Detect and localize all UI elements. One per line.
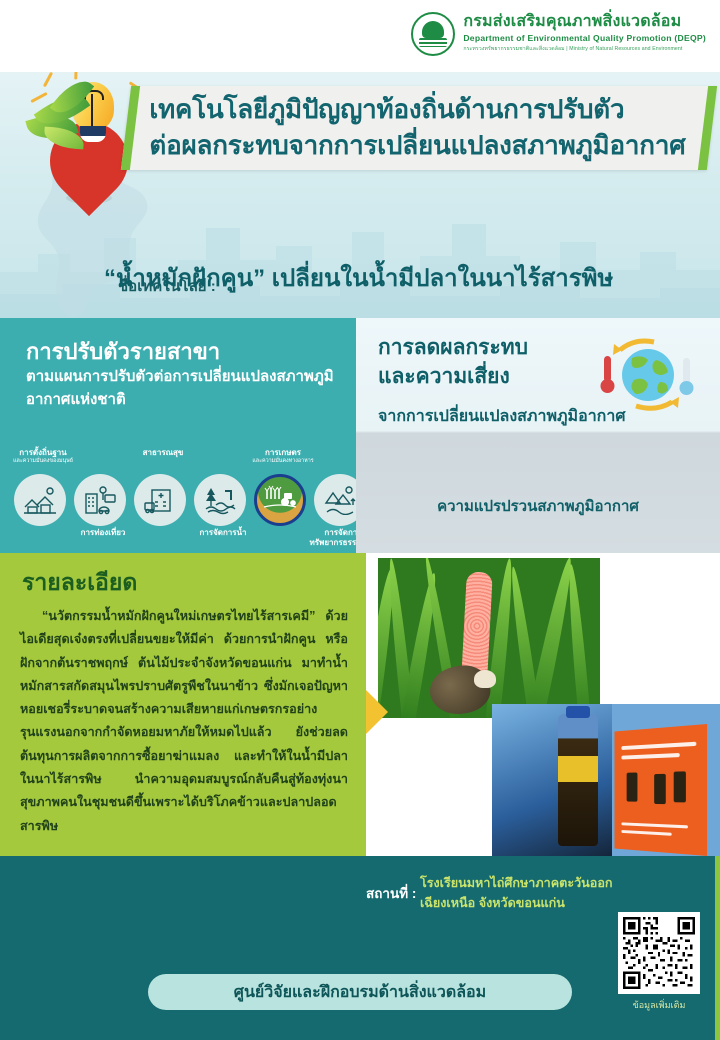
qr-caption: ข้อมูลเพิ่มเติม [618, 998, 700, 1012]
photo-snail-eggs [378, 558, 600, 718]
poster-line-3 [621, 822, 688, 828]
agriculture-label-group: การเกษตร และความมั่นคงทางอาหาร [246, 448, 320, 464]
sectors-heading: การปรับตัวรายสาขา [26, 334, 220, 369]
water-management-label: การจัดการน้ำ [182, 528, 264, 538]
farm-tractor-icon [254, 474, 306, 526]
sidebar-item-public-health[interactable]: สาธารณสุข [134, 474, 190, 526]
details-body-text: “นวัตกรรมน้ำหมักฝักคูนใหม่เกษตรไทยไร้สาร… [20, 605, 348, 838]
settlement-label-group: การตั้งถิ่นฐาน และความมั่นคงของมนุษย์ [6, 448, 80, 464]
mitigation-heading-line1: การลดผลกระทบ [378, 334, 528, 363]
snail-head [474, 670, 496, 688]
department-name-en: Department of Environmental Quality Prom… [463, 33, 706, 43]
bottle-cap [566, 706, 590, 718]
globe-thermometer-icon [598, 332, 694, 418]
globe-arrows-svg [598, 332, 694, 418]
health-label-group: สาธารณสุข [126, 448, 200, 458]
snail-egg-cluster [461, 571, 493, 680]
poster-line-4 [621, 830, 671, 836]
tourism-label: การท่องเที่ยว [62, 528, 144, 538]
city-tourism-icon [74, 474, 126, 526]
poster-bottle-1 [627, 772, 638, 801]
lightbulb-base [80, 126, 106, 142]
tourism-label-group: การท่องเที่ยว [62, 528, 144, 538]
main-title-banner: เทคโนโลยีภูมิปัญญาท้องถิ่นด้านการปรับตัว… [121, 86, 717, 170]
river-faucet-icon [194, 474, 246, 526]
details-heading: รายละเอียด [22, 565, 137, 601]
department-name-th: กรมส่งเสริมคุณภาพสิ่งแวดล้อม [463, 13, 706, 31]
settlement-sublabel: และความมั่นคงของมนุษย์ [6, 458, 80, 464]
sidebar-item-settlement[interactable]: การตั้งถิ่นฐาน และความมั่นคงของมนุษย์ [14, 474, 70, 526]
poster-footer: สถานที่ : โรงเรียนมหาไถ่ศึกษาภาคตะวันออก… [0, 856, 720, 1040]
ray-1 [30, 92, 47, 103]
center-name: ศูนย์วิจัยและฝึกอบรมด้านสิ่งแวดล้อม [234, 980, 486, 1005]
photo-fermented-bottle [492, 704, 720, 856]
water-label-group: การจัดการน้ำ [182, 528, 264, 538]
poster-bottle-3 [674, 771, 686, 802]
main-title-line1: เทคโนโลยีภูมิปัญญาท้องถิ่นด้านการปรับตัว [149, 92, 693, 128]
agriculture-label: การเกษตร [246, 448, 320, 458]
hot-thermometer [601, 356, 615, 393]
technology-name: “น้ำหมักฝักคูน” เปลี่ยนในน้ำมีปลาในนาไร้… [104, 258, 704, 297]
mitigation-panel: การลดผลกระทบ และความเสี่ยง จากการเปลี่ยน… [356, 318, 720, 553]
place-label: สถานที่ : [366, 882, 416, 904]
ray-2 [43, 72, 53, 88]
bottle-label [558, 756, 598, 782]
climate-variability-text: ความแปรปรวนสภาพภูมิอากาศ [356, 494, 720, 518]
mitigation-subheading: จากการเปลี่ยนแปลงสภาพภูมิอากาศ [378, 404, 626, 429]
exhibit-poster [614, 724, 707, 856]
sidebar-item-agriculture[interactable]: การเกษตร และความมั่นคงทางอาหาร [254, 474, 310, 526]
cold-thermometer [680, 358, 694, 395]
department-text: กรมส่งเสริมคุณภาพสิ่งแวดล้อม Department … [463, 12, 706, 53]
place-value: โรงเรียนมหาไถ่ศึกษาภาคตะวันออกเฉียงเหนือ… [420, 874, 620, 913]
poster-bottle-2 [654, 774, 666, 804]
qr-code-icon[interactable] [618, 912, 700, 994]
hospital-icon [134, 474, 186, 526]
qr-code-svg [623, 917, 695, 989]
footer-green-edge [715, 856, 720, 1040]
sector-icon-row: การตั้งถิ่นฐาน และความมั่นคงของมนุษย์ [6, 448, 354, 548]
center-name-pill: ศูนย์วิจัยและฝึกอบรมด้านสิ่งแวดล้อม [148, 974, 572, 1010]
main-title-line2: ต่อผลกระทบจากการเปลี่ยนแปลงสภาพภูมิอากาศ [149, 128, 693, 164]
poster-line-2 [621, 753, 679, 760]
mitigation-heading-line2: และความเสี่ยง [378, 363, 528, 392]
settlement-label: การตั้งถิ่นฐาน [6, 448, 80, 458]
sidebar-item-tourism[interactable]: การท่องเที่ยว [74, 474, 130, 526]
village-houses-icon [14, 474, 66, 526]
tree-seal-icon [411, 12, 455, 56]
grass-8 [565, 564, 591, 718]
mitigation-heading: การลดผลกระทบ และความเสี่ยง [378, 334, 528, 392]
public-health-label: สาธารณสุข [126, 448, 200, 458]
poster-header: กรมส่งเสริมคุณภาพสิ่งแวดล้อม Department … [0, 0, 720, 72]
department-logo: กรมส่งเสริมคุณภาพสิ่งแวดล้อม Department … [411, 12, 706, 56]
agriculture-sublabel: และความมั่นคงทางอาหาร [246, 458, 320, 464]
poster-line-1 [621, 742, 696, 750]
sidebar-item-water-management[interactable]: การจัดการน้ำ [194, 474, 250, 526]
yellow-arrow-marker [366, 690, 388, 734]
seal-trunk [431, 34, 435, 43]
ministry-line: กระทรวงทรัพยากรธรรมชาติและสิ่งแวดล้อม | … [463, 45, 706, 53]
lightbulb-filament [91, 94, 93, 128]
sectors-subheading: ตามแผนการปรับตัวต่อการเปลี่ยนแปลงสภาพภูม… [26, 366, 336, 411]
poster-root: กรมส่งเสริมคุณภาพสิ่งแวดล้อม Department … [0, 0, 720, 1040]
adaptation-sectors-panel: การปรับตัวรายสาขา ตามแผนการปรับตัวต่อการ… [0, 318, 356, 553]
